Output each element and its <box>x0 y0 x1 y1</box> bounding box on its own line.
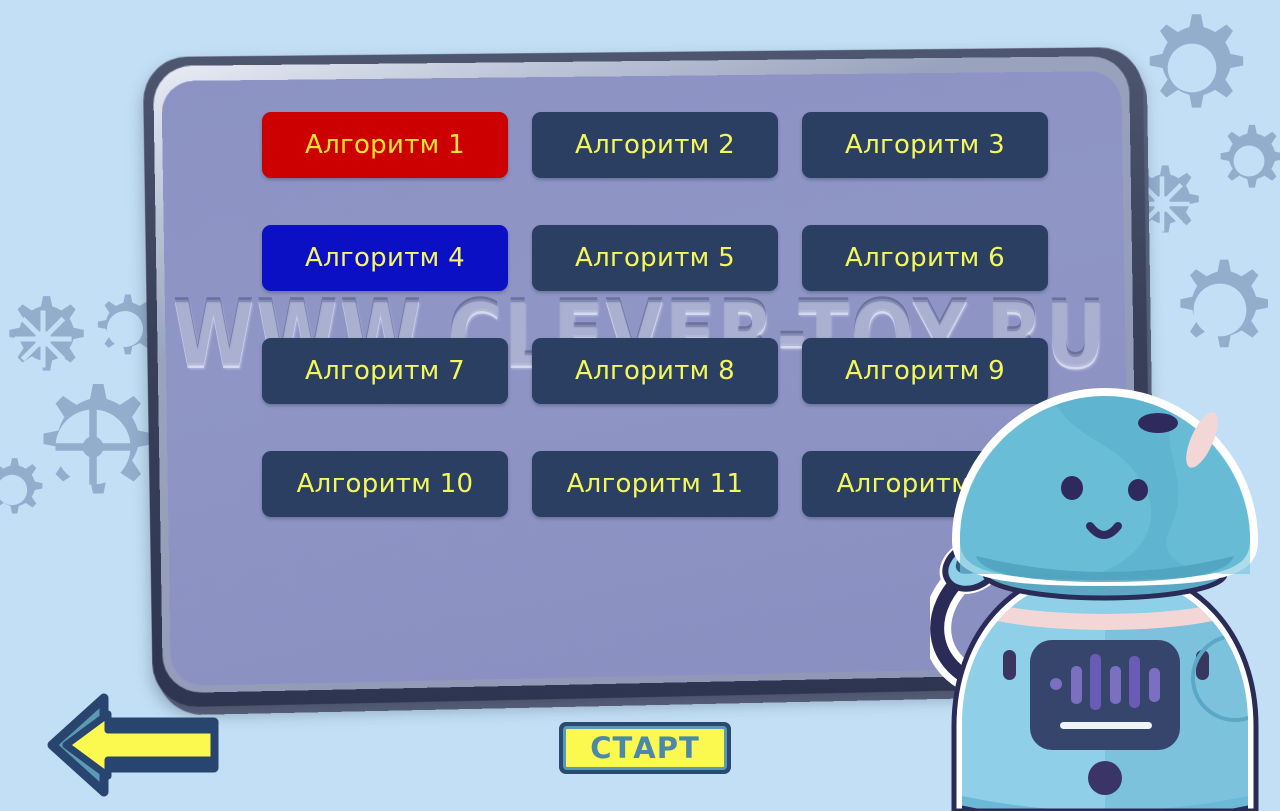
algorithm-button-label: Алгоритм 1 <box>305 130 465 160</box>
algorithm-button-label: Алгоритм 11 <box>567 469 744 499</box>
algorithm-button-label: Алгоритм 6 <box>845 243 1005 273</box>
gear-icon <box>0 288 94 390</box>
algorithm-button-12[interactable]: Алгоритм 12 <box>802 451 1048 517</box>
start-button-label: СТАРТ <box>590 731 700 765</box>
algorithm-button-5[interactable]: Алгоритм 5 <box>532 225 778 291</box>
start-button-inner: СТАРТ <box>563 726 727 770</box>
algorithm-button-3[interactable]: Алгоритм 3 <box>802 112 1048 178</box>
algorithm-button-label: Алгоритм 10 <box>297 469 474 499</box>
back-arrow-button[interactable] <box>44 690 224 800</box>
algorithm-button-label: Алгоритм 8 <box>575 356 735 386</box>
start-button[interactable]: СТАРТ <box>559 722 731 774</box>
gear-icon <box>1206 118 1280 204</box>
algorithm-button-label: Алгоритм 9 <box>845 356 1005 386</box>
algorithm-button-label: Алгоритм 12 <box>837 469 1014 499</box>
algorithm-button-4[interactable]: Алгоритм 4 <box>262 225 508 291</box>
algorithm-grid: Алгоритм 1Алгоритм 2Алгоритм 3Алгоритм 4… <box>262 112 1062 517</box>
algorithm-button-1[interactable]: Алгоритм 1 <box>262 112 508 178</box>
algorithm-button-6[interactable]: Алгоритм 6 <box>802 225 1048 291</box>
app-root: WWW.CLEVER-TOY.RU Алгоритм 1Алгоритм 2Ал… <box>0 0 1280 811</box>
algorithm-button-label: Алгоритм 4 <box>305 243 465 273</box>
algorithm-button-label: Алгоритм 3 <box>845 130 1005 160</box>
gear-icon <box>0 452 50 528</box>
algorithm-button-label: Алгоритм 2 <box>575 130 735 160</box>
algorithm-button-2[interactable]: Алгоритм 2 <box>532 112 778 178</box>
algorithm-button-7[interactable]: Алгоритм 7 <box>262 338 508 404</box>
algorithm-button-9[interactable]: Алгоритм 9 <box>802 338 1048 404</box>
gear-icon <box>18 372 168 522</box>
back-arrow-icon[interactable] <box>44 690 224 800</box>
algorithm-button-label: Алгоритм 5 <box>575 243 735 273</box>
algorithm-button-11[interactable]: Алгоритм 11 <box>532 451 778 517</box>
algorithm-button-label: Алгоритм 7 <box>305 356 465 386</box>
algorithm-button-8[interactable]: Алгоритм 8 <box>532 338 778 404</box>
gear-icon <box>1160 250 1280 370</box>
algorithm-button-10[interactable]: Алгоритм 10 <box>262 451 508 517</box>
